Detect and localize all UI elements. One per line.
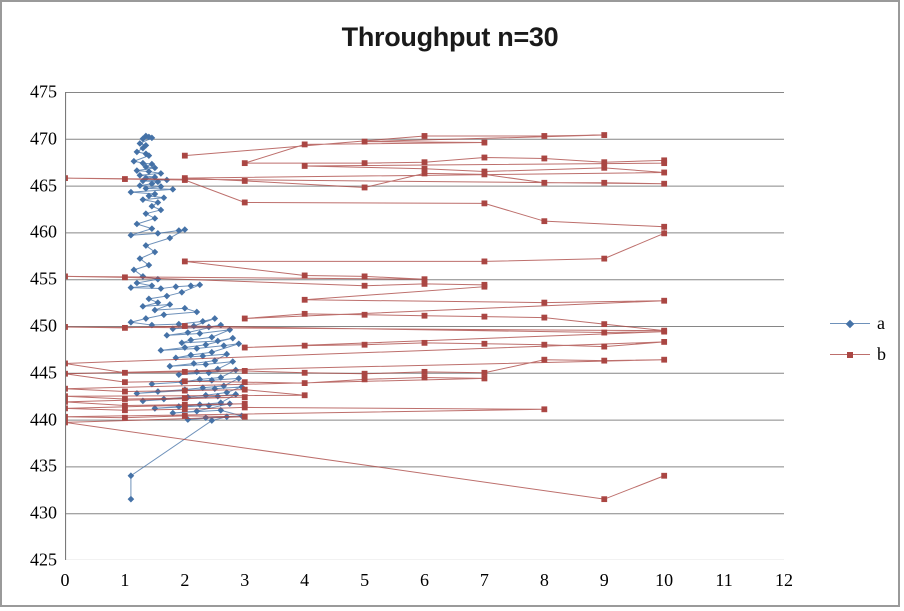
data-point xyxy=(662,161,667,166)
data-point xyxy=(161,312,167,318)
legend-label: a xyxy=(877,313,885,334)
data-point xyxy=(362,283,367,288)
y-axis-tick-label: 425 xyxy=(11,550,57,571)
y-axis-tick-label: 440 xyxy=(11,409,57,430)
data-point xyxy=(542,407,547,412)
data-point xyxy=(362,274,367,279)
data-point xyxy=(422,375,427,380)
legend-swatch-icon xyxy=(830,349,870,361)
data-point xyxy=(482,376,487,381)
y-axis-tick-label: 470 xyxy=(11,128,57,149)
series-b xyxy=(65,132,667,501)
data-point xyxy=(128,285,134,291)
data-point xyxy=(137,141,143,147)
y-axis-tick-label: 450 xyxy=(11,316,57,337)
data-point xyxy=(152,215,158,221)
data-point xyxy=(542,133,547,138)
data-point xyxy=(122,370,127,375)
data-point xyxy=(134,149,140,155)
y-axis-tick-label: 455 xyxy=(11,269,57,290)
data-point xyxy=(602,322,607,327)
legend-item-b[interactable]: b xyxy=(830,339,892,370)
data-point xyxy=(164,293,170,299)
data-point xyxy=(602,256,607,261)
data-point xyxy=(302,343,307,348)
y-axis-tick-label: 460 xyxy=(11,222,57,243)
legend-marker xyxy=(846,319,854,327)
data-point xyxy=(155,300,161,306)
data-point xyxy=(161,195,167,201)
data-point xyxy=(182,177,187,182)
y-axis-tick-label: 475 xyxy=(11,82,57,103)
data-point xyxy=(302,273,307,278)
data-point xyxy=(662,170,667,175)
y-axis-tick-label: 465 xyxy=(11,175,57,196)
data-point xyxy=(242,178,247,183)
data-point xyxy=(482,155,487,160)
data-point xyxy=(302,381,307,386)
data-point xyxy=(122,396,127,401)
x-axis-tick-label: 3 xyxy=(225,570,265,591)
data-point xyxy=(662,181,667,186)
plot-svg xyxy=(65,92,784,560)
data-point xyxy=(206,324,212,330)
data-point xyxy=(122,325,127,330)
data-point xyxy=(212,316,218,322)
data-point xyxy=(422,133,427,138)
chart-container: Throughput n=30 425430435440445450455460… xyxy=(0,0,900,607)
data-point xyxy=(182,259,187,264)
data-point xyxy=(158,171,164,177)
data-point xyxy=(182,227,188,233)
legend: ab xyxy=(830,308,892,370)
x-axis-tick-label: 5 xyxy=(345,570,385,591)
data-point xyxy=(242,200,247,205)
data-point xyxy=(182,369,187,374)
y-axis-tick-label: 445 xyxy=(11,362,57,383)
legend-label: b xyxy=(877,344,886,365)
data-point xyxy=(302,297,307,302)
data-point xyxy=(422,160,427,165)
data-point xyxy=(182,153,187,158)
data-point xyxy=(602,358,607,363)
legend-marker xyxy=(847,352,853,358)
data-point xyxy=(662,329,667,334)
data-point xyxy=(542,219,547,224)
data-point xyxy=(158,347,164,353)
data-point xyxy=(215,338,221,344)
data-point xyxy=(164,332,170,338)
x-axis-tick-label: 9 xyxy=(584,570,624,591)
x-axis-tick-label: 1 xyxy=(105,570,145,591)
legend-item-a[interactable]: a xyxy=(830,308,892,339)
data-point xyxy=(242,380,247,385)
data-point xyxy=(134,221,140,227)
x-axis-tick-label: 2 xyxy=(165,570,205,591)
data-point xyxy=(662,357,667,362)
data-point xyxy=(542,342,547,347)
data-point xyxy=(242,345,247,350)
data-point xyxy=(158,286,164,292)
data-point xyxy=(482,370,487,375)
data-point xyxy=(662,231,667,236)
data-point xyxy=(602,132,607,137)
data-point xyxy=(155,230,161,236)
data-point xyxy=(170,186,176,192)
data-point xyxy=(182,407,187,412)
data-point xyxy=(242,387,247,392)
data-point xyxy=(602,165,607,170)
x-axis-tick-label: 12 xyxy=(764,570,804,591)
x-axis-tick-label: 4 xyxy=(285,570,325,591)
data-point xyxy=(149,203,155,209)
data-point xyxy=(179,340,185,346)
data-point xyxy=(236,341,242,347)
data-point xyxy=(122,275,127,280)
data-point xyxy=(167,363,173,369)
data-point xyxy=(662,339,667,344)
data-point xyxy=(128,189,134,195)
data-point xyxy=(602,180,607,185)
data-point xyxy=(362,312,367,317)
data-point xyxy=(140,303,146,309)
data-point xyxy=(422,340,427,345)
legend-swatch-icon xyxy=(830,318,870,330)
data-point xyxy=(197,282,203,288)
data-point xyxy=(362,377,367,382)
data-point xyxy=(140,197,146,203)
data-point xyxy=(122,408,127,413)
data-point xyxy=(482,201,487,206)
data-point xyxy=(122,415,127,420)
data-point xyxy=(542,156,547,161)
x-axis-tick-label: 7 xyxy=(464,570,504,591)
data-point xyxy=(182,413,187,418)
data-point xyxy=(602,330,607,335)
data-point xyxy=(242,161,247,166)
data-point xyxy=(131,158,137,164)
chart-title: Throughput n=30 xyxy=(2,22,898,53)
data-point xyxy=(422,313,427,318)
data-point xyxy=(179,289,185,295)
data-point xyxy=(182,323,187,328)
data-point xyxy=(662,298,667,303)
y-axis-tick-label: 430 xyxy=(11,503,57,524)
data-point xyxy=(482,140,487,145)
data-point xyxy=(602,497,607,502)
data-point xyxy=(137,183,143,189)
plot-area xyxy=(65,92,784,560)
data-point xyxy=(176,372,182,378)
data-point xyxy=(422,171,427,176)
data-point xyxy=(362,139,367,144)
data-point xyxy=(542,300,547,305)
data-point xyxy=(137,172,143,178)
data-point xyxy=(197,331,203,337)
data-point xyxy=(167,235,173,241)
data-point xyxy=(182,395,187,400)
x-axis-tick-label: 6 xyxy=(405,570,445,591)
data-point xyxy=(209,349,215,355)
data-point xyxy=(134,168,140,174)
data-point xyxy=(242,395,247,400)
data-point xyxy=(602,344,607,349)
data-point xyxy=(122,176,127,181)
data-point xyxy=(173,284,179,290)
data-point xyxy=(143,316,149,322)
data-point xyxy=(236,376,242,382)
data-point xyxy=(167,302,173,308)
data-point xyxy=(182,388,187,393)
data-point xyxy=(542,357,547,362)
data-point xyxy=(182,379,187,384)
data-point xyxy=(362,342,367,347)
data-point xyxy=(662,473,667,478)
data-point xyxy=(482,314,487,319)
data-point xyxy=(362,161,367,166)
data-point xyxy=(233,391,239,397)
data-point xyxy=(662,224,667,229)
data-point xyxy=(128,496,134,502)
data-point xyxy=(209,334,215,340)
data-point xyxy=(224,351,230,357)
data-point xyxy=(482,341,487,346)
data-point xyxy=(194,309,200,315)
data-point xyxy=(122,389,127,394)
data-point xyxy=(302,142,307,147)
data-point xyxy=(482,172,487,177)
data-point xyxy=(482,284,487,289)
data-point xyxy=(143,211,149,217)
data-point xyxy=(422,281,427,286)
x-axis-tick-label: 10 xyxy=(644,570,684,591)
series-layer xyxy=(65,132,667,502)
data-point xyxy=(242,316,247,321)
data-point xyxy=(230,359,236,365)
data-point xyxy=(203,342,209,348)
data-point xyxy=(128,473,134,479)
data-point xyxy=(482,259,487,264)
data-point xyxy=(542,180,547,185)
data-point xyxy=(422,369,427,374)
data-point xyxy=(146,296,152,302)
data-point xyxy=(302,370,307,375)
data-point xyxy=(128,319,134,325)
y-axis-tick-label: 435 xyxy=(11,456,57,477)
data-point xyxy=(242,414,247,419)
series-a xyxy=(128,133,245,502)
data-point xyxy=(122,380,127,385)
data-point xyxy=(242,405,247,410)
data-point xyxy=(182,305,188,311)
data-point xyxy=(152,307,158,313)
x-axis-tick-label: 11 xyxy=(704,570,744,591)
data-point xyxy=(134,280,140,286)
x-axis-tick-label: 0 xyxy=(45,570,85,591)
data-point xyxy=(155,200,161,206)
data-point xyxy=(242,368,247,373)
data-point xyxy=(302,311,307,316)
data-point xyxy=(230,335,236,341)
data-point xyxy=(362,185,367,190)
data-point xyxy=(302,163,307,168)
data-point xyxy=(602,160,607,165)
data-point xyxy=(542,315,547,320)
data-point xyxy=(302,393,307,398)
data-point xyxy=(362,371,367,376)
x-axis-tick-label: 8 xyxy=(524,570,564,591)
data-point xyxy=(158,207,164,213)
data-point xyxy=(149,226,155,232)
